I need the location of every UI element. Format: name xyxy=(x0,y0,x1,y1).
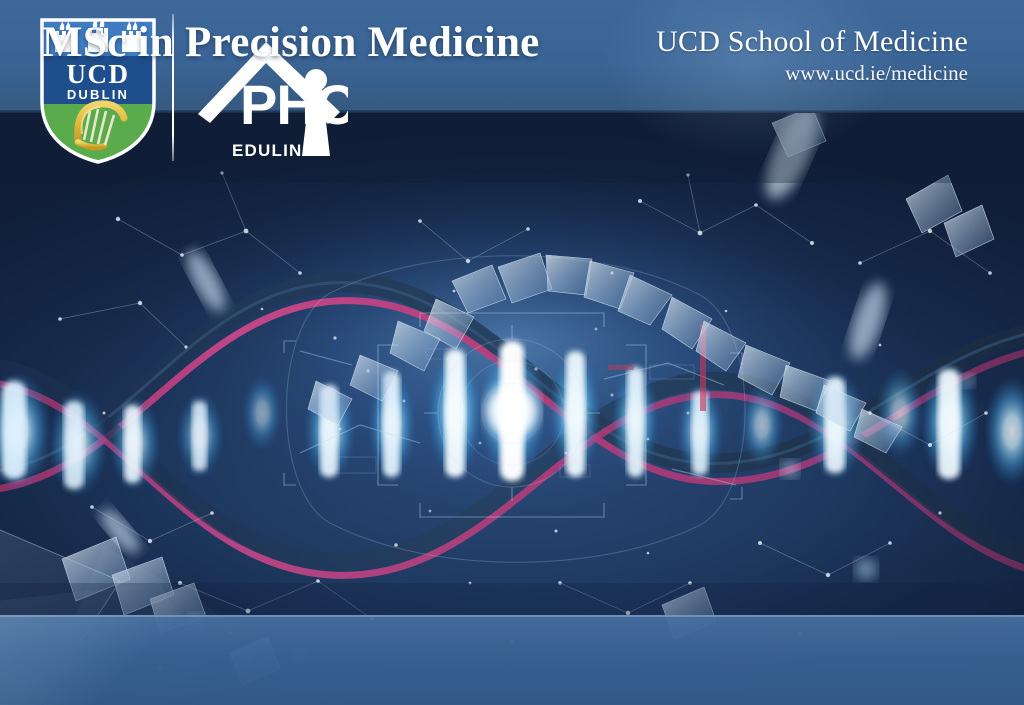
school-website-url: www.ucd.ie/medicine xyxy=(656,62,968,84)
school-name: UCD School of Medicine xyxy=(656,26,968,58)
header-titles: UCD School of Medicine www.ucd.ie/medici… xyxy=(656,26,968,84)
title-bar-shard-overlay xyxy=(0,615,256,705)
poster-title: MSc in Precision Medicine xyxy=(42,18,540,67)
edulinks-wordmark: EDULINKS xyxy=(232,141,329,160)
title-bar xyxy=(0,615,1024,705)
crest-dublin-text: DUBLIN xyxy=(67,87,129,102)
phc-wordmark: PHC xyxy=(240,73,348,136)
poster-root: UCD School of Medicine www.ucd.ie/medici… xyxy=(0,0,1024,705)
